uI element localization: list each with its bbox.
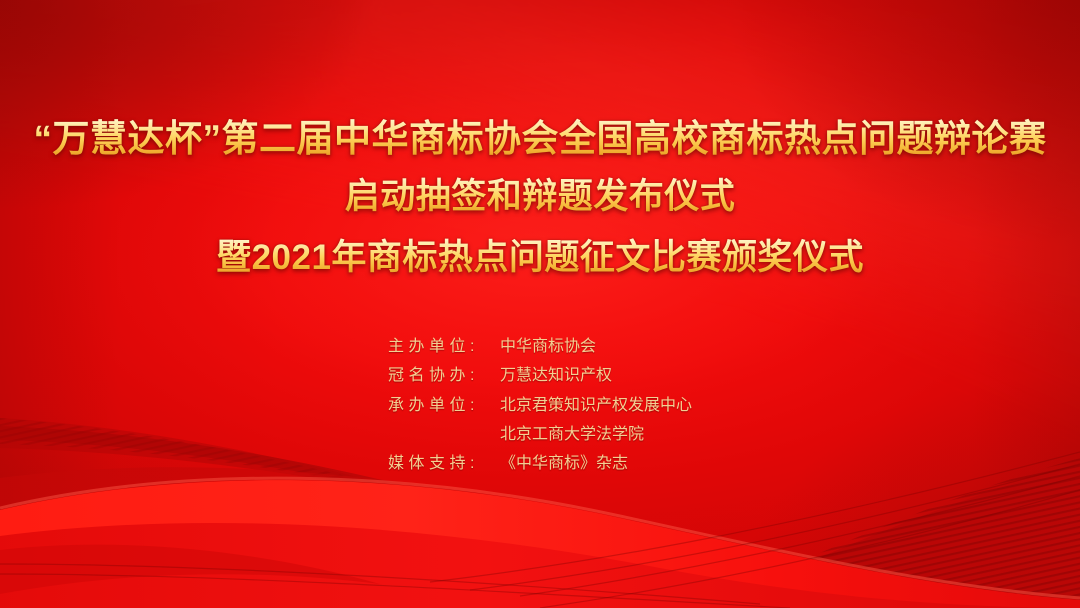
credit-row-organizer: 承办单位: 北京君策知识产权发展中心 (388, 393, 692, 418)
credit-value-media-support: 《中华商标》杂志 (500, 451, 628, 476)
credit-row-organizer-secondary: 承办单位: 北京工商大学法学院 (388, 422, 692, 447)
credit-row-media-support: 媒体支持: 《中华商标》杂志 (388, 451, 692, 476)
banner-title-block: “万慧达杯”第二届中华商标协会全国高校商标热点问题辩论赛 启动抽签和辩题发布仪式… (0, 118, 1080, 278)
credit-label-title-sponsor: 冠名协办: (388, 363, 500, 388)
organizer-credits-block: 主办单位: 中华商标协会 冠名协办: 万慧达知识产权 承办单位: 北京君策知识产… (388, 334, 692, 476)
title-line-3: 暨2021年商标热点问题征文比赛颁奖仪式 (0, 238, 1080, 279)
banner-content: “万慧达杯”第二届中华商标协会全国高校商标热点问题辩论赛 启动抽签和辩题发布仪式… (0, 0, 1080, 608)
credit-value-host: 中华商标协会 (500, 334, 596, 359)
credit-value-organizer-secondary: 北京工商大学法学院 (500, 422, 644, 447)
credit-row-host: 主办单位: 中华商标协会 (388, 334, 692, 359)
credit-label-organizer: 承办单位: (388, 393, 500, 418)
credit-label-media-support: 媒体支持: (388, 451, 500, 476)
credit-value-organizer: 北京君策知识产权发展中心 (500, 393, 692, 418)
credit-row-title-sponsor: 冠名协办: 万慧达知识产权 (388, 363, 692, 388)
title-line-1: “万慧达杯”第二届中华商标协会全国高校商标热点问题辩论赛 (0, 118, 1080, 161)
credit-value-title-sponsor: 万慧达知识产权 (500, 363, 612, 388)
event-banner: “万慧达杯”第二届中华商标协会全国高校商标热点问题辩论赛 启动抽签和辩题发布仪式… (0, 0, 1080, 608)
title-line-2: 启动抽签和辩题发布仪式 (0, 177, 1080, 218)
credit-label-host: 主办单位: (388, 334, 500, 359)
